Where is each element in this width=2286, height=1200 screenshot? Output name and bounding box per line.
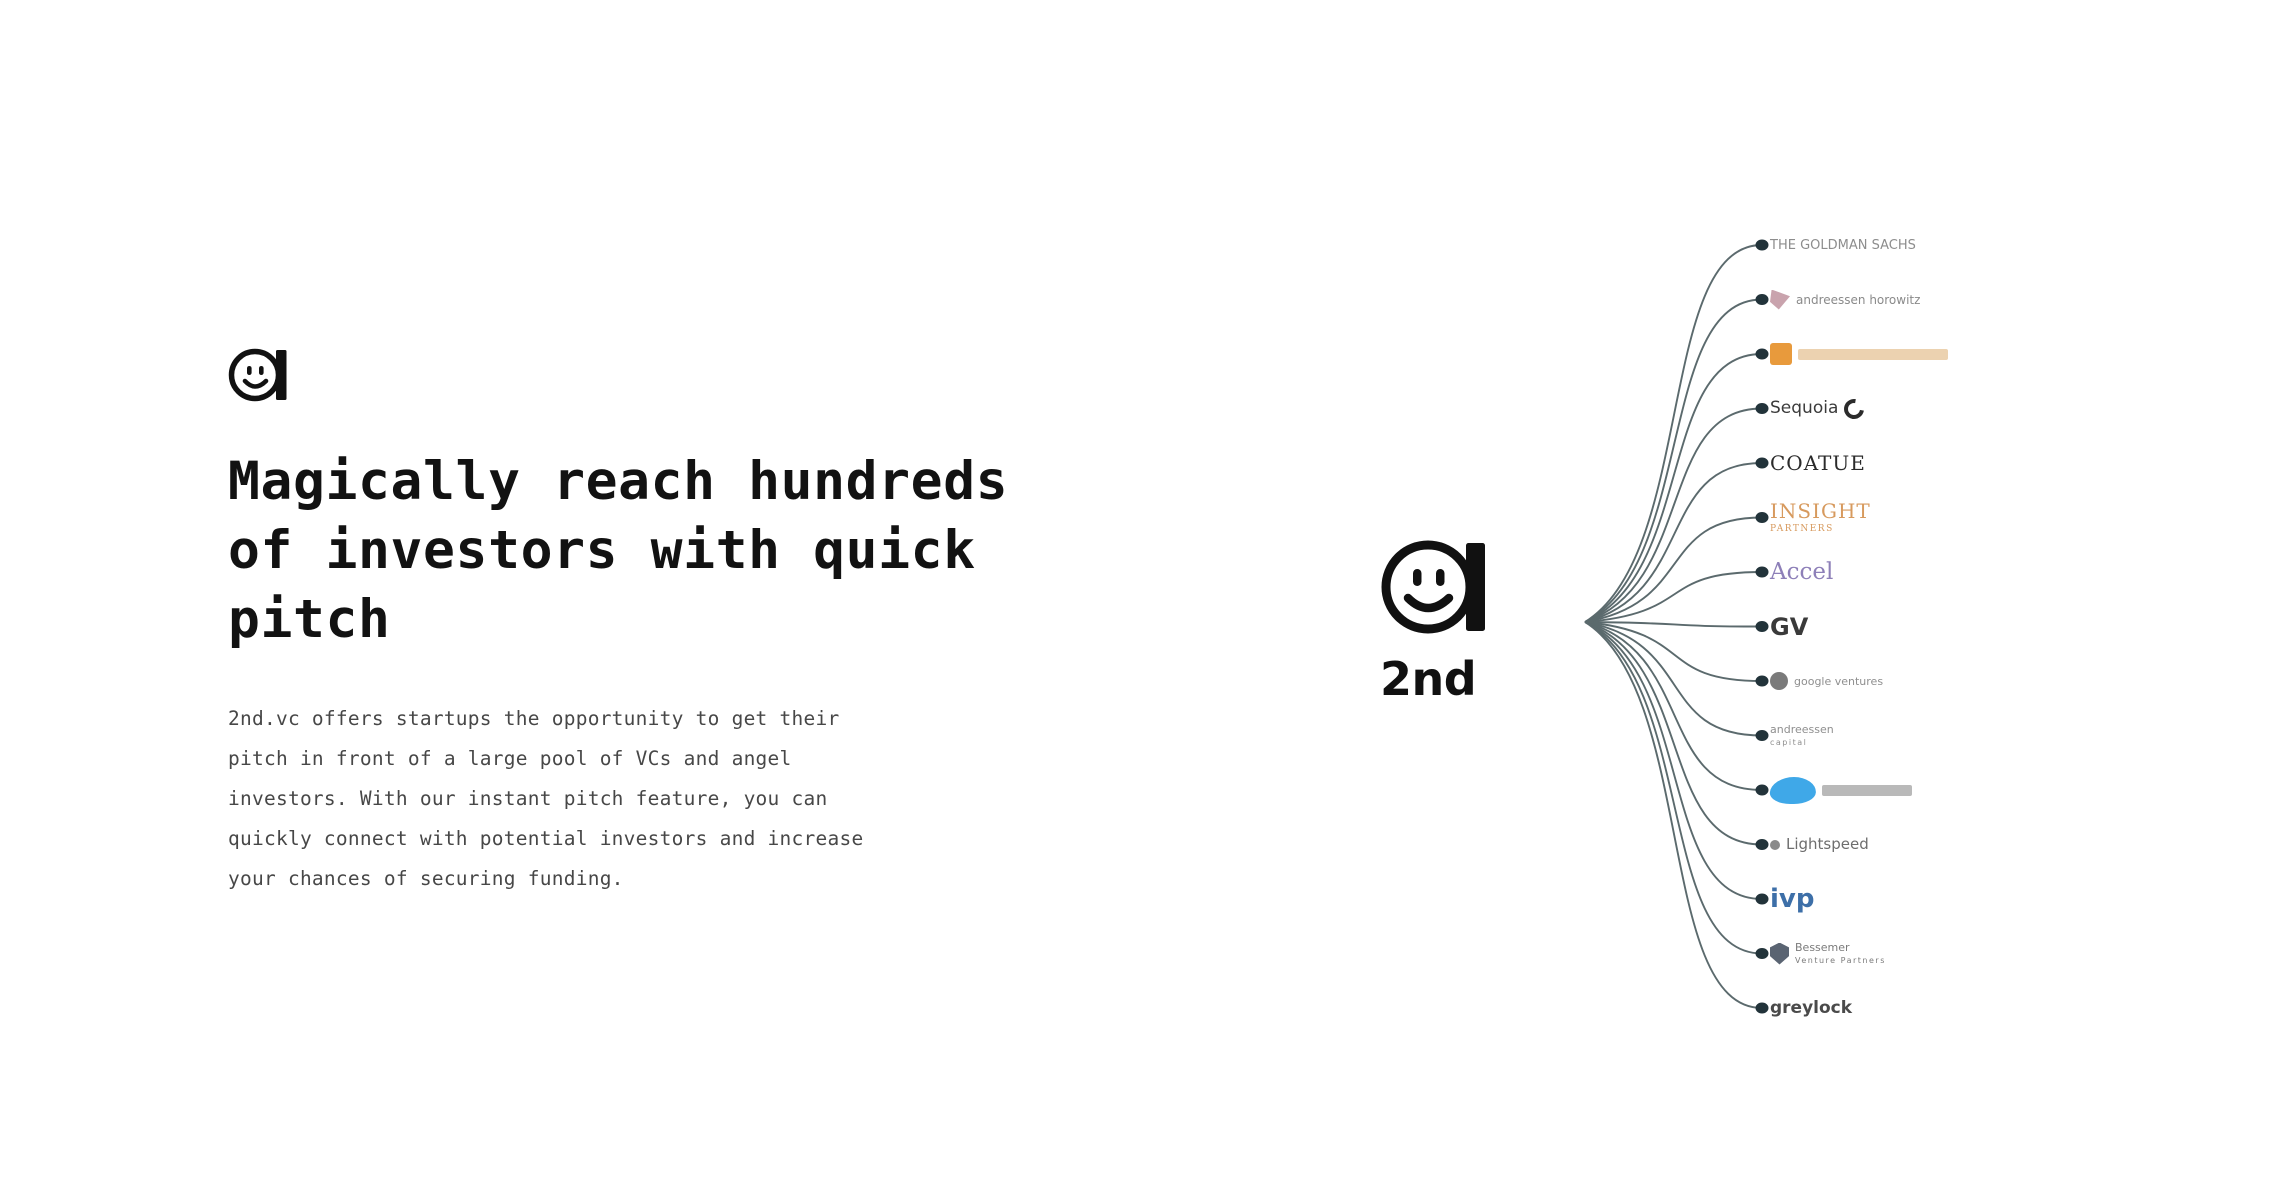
investor-name: INSIGHT <box>1770 501 1871 521</box>
investor-logo: Sequoia <box>1770 396 1864 422</box>
investor-logo: Lightspeed <box>1770 832 1869 858</box>
investor-logo: greylock <box>1770 995 1852 1021</box>
investor-name: COATUE <box>1770 453 1866 473</box>
investor-logo <box>1770 341 1948 367</box>
investor-logo: andreessencapital <box>1770 723 1834 749</box>
investor-wordmark-bar <box>1798 349 1948 360</box>
page-title: Magically reach hundreds of investors wi… <box>228 448 1108 655</box>
investor-node[interactable]: COATUE <box>1770 443 2200 483</box>
investor-node[interactable]: google ventures <box>1770 661 2200 701</box>
investor-name-stack: BessemerVenture Partners <box>1795 942 1886 965</box>
investor-node[interactable] <box>1770 770 2200 810</box>
investor-node[interactable]: andreessencapital <box>1770 716 2200 756</box>
investor-node[interactable]: BessemerVenture Partners <box>1770 934 2200 974</box>
investor-name: THE GOLDMAN SACHS <box>1770 239 1916 252</box>
investor-node[interactable] <box>1770 334 2200 374</box>
orange-square-icon <box>1770 343 1792 365</box>
investor-node[interactable]: Lightspeed <box>1770 825 2200 865</box>
investor-name: Bessemer <box>1795 942 1886 953</box>
page-root: { "brand": { "logo_icon": "smiley-a-logo… <box>0 0 2286 1200</box>
graph-nodes: THE GOLDMAN SACHSandreessen horowitzSequ… <box>1370 180 2200 1040</box>
investor-node[interactable]: Sequoia <box>1770 389 2200 429</box>
investor-logo: BessemerVenture Partners <box>1770 941 1886 967</box>
investor-logo: COATUE <box>1770 450 1866 476</box>
investor-logo: google ventures <box>1770 668 1883 694</box>
investor-logo: andreessen horowitz <box>1770 287 1920 313</box>
investor-network-graph: 2nd THE GOLDMAN SACHSandreessen horowitz… <box>1370 180 2200 1040</box>
dot-icon <box>1770 672 1788 690</box>
investor-name: Lightspeed <box>1786 837 1869 852</box>
investor-wordmark-bar <box>1822 785 1912 796</box>
investor-subtitle: PARTNERS <box>1770 525 1871 534</box>
investor-node[interactable]: GV <box>1770 607 2200 647</box>
investor-name: Sequoia <box>1770 400 1838 417</box>
shield-icon <box>1770 943 1789 965</box>
investor-node[interactable]: ivp <box>1770 879 2200 919</box>
ring-icon <box>1840 395 1868 423</box>
investor-name-stack: andreessencapital <box>1770 724 1834 747</box>
dot-icon <box>1770 840 1780 850</box>
investor-logo: ivp <box>1770 886 1814 912</box>
investor-subtitle: Venture Partners <box>1795 957 1886 965</box>
investor-name: GV <box>1770 615 1808 639</box>
investor-logo <box>1770 777 1912 803</box>
investor-logo: INSIGHTPARTNERS <box>1770 505 1871 531</box>
investor-node[interactable]: Accel <box>1770 552 2200 592</box>
hero-section: Magically reach hundreds of investors wi… <box>228 344 1108 899</box>
investor-logo: Accel <box>1770 559 1833 585</box>
investor-name: Accel <box>1770 561 1833 584</box>
investor-name-stack: INSIGHTPARTNERS <box>1770 501 1871 534</box>
cloud-icon <box>1769 777 1817 804</box>
investor-node[interactable]: greylock <box>1770 988 2200 1028</box>
investor-name: google ventures <box>1794 676 1883 687</box>
investor-subtitle: capital <box>1770 739 1834 747</box>
investor-logo: THE GOLDMAN SACHS <box>1770 232 1916 258</box>
investor-name: andreessen <box>1770 724 1834 735</box>
investor-name: andreessen horowitz <box>1796 294 1920 306</box>
investor-node[interactable]: INSIGHTPARTNERS <box>1770 498 2200 538</box>
hero-description: 2nd.vc offers startups the opportunity t… <box>228 699 1088 899</box>
investor-name: ivp <box>1770 886 1814 912</box>
triangle-icon <box>1770 290 1790 310</box>
smiley-a-logo-icon <box>228 344 294 406</box>
investor-node[interactable]: THE GOLDMAN SACHS <box>1770 225 2200 265</box>
investor-node[interactable]: andreessen horowitz <box>1770 280 2200 320</box>
investor-name: greylock <box>1770 1000 1852 1017</box>
investor-logo: GV <box>1770 614 1808 640</box>
